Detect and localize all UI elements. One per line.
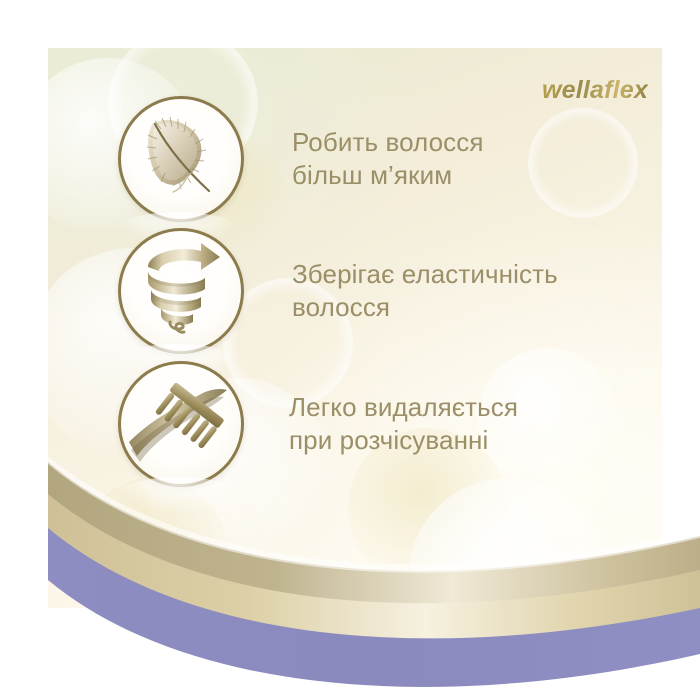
spiral-arrow-icon	[118, 228, 244, 354]
feature-item: Зберігає еластичність волосся	[118, 228, 558, 354]
feature-item: Робить волосся більш м’яким	[118, 96, 484, 222]
promo-poster: wellaflex	[0, 0, 700, 700]
brand-logo: wellaflex	[542, 76, 648, 105]
feature-text: Зберігає еластичність волосся	[292, 258, 558, 324]
feather-icon	[118, 96, 244, 222]
ribbon-decoration	[0, 440, 700, 700]
feature-text: Робить волосся більш м’яким	[292, 126, 484, 192]
